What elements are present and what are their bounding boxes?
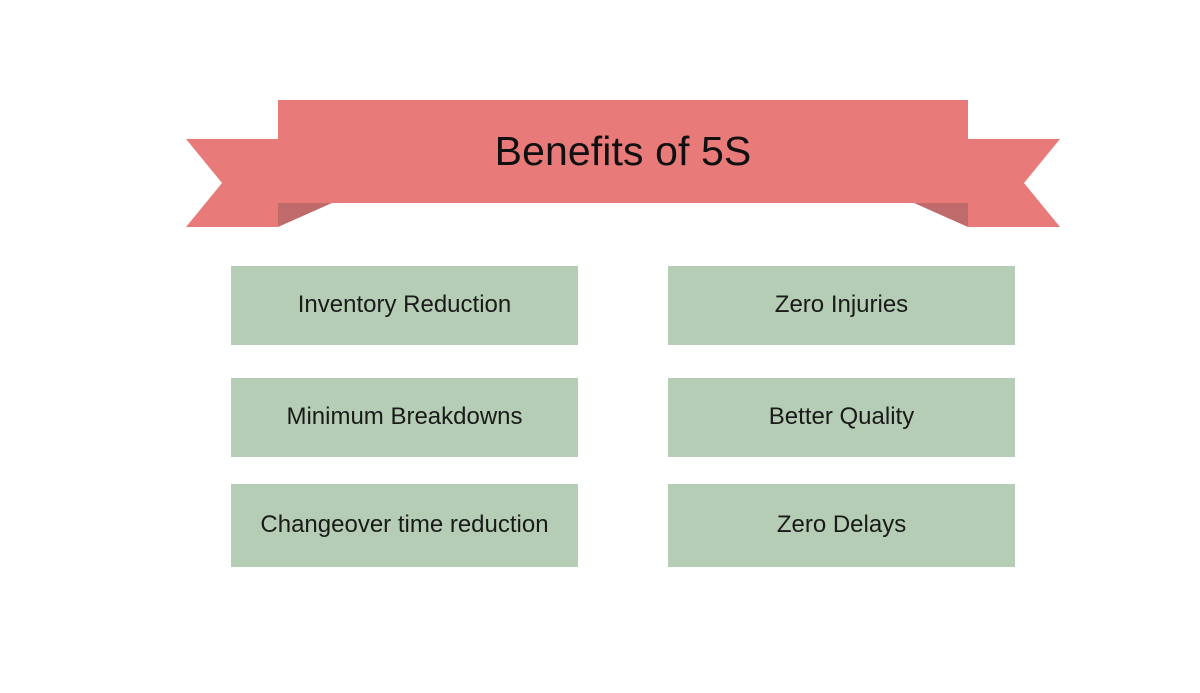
benefit-label: Better Quality bbox=[769, 403, 914, 432]
benefit-box-inventory-reduction[interactable]: Inventory Reduction bbox=[231, 266, 578, 345]
ribbon-left-fold bbox=[278, 203, 332, 227]
benefit-box-changeover-time-reduction[interactable]: Changeover time reduction bbox=[231, 484, 578, 567]
benefit-box-zero-delays[interactable]: Zero Delays bbox=[668, 484, 1015, 567]
ribbon-right-tail bbox=[968, 139, 1060, 227]
benefit-label: Changeover time reduction bbox=[260, 511, 548, 540]
benefit-label: Zero Delays bbox=[777, 511, 906, 540]
ribbon-right-fold bbox=[914, 203, 968, 227]
benefit-label: Minimum Breakdowns bbox=[286, 403, 522, 432]
benefit-box-zero-injuries[interactable]: Zero Injuries bbox=[668, 266, 1015, 345]
benefit-label: Zero Injuries bbox=[775, 291, 908, 320]
benefits-grid: Inventory Reduction Zero Injuries Minimu… bbox=[231, 266, 1015, 560]
benefit-label: Inventory Reduction bbox=[298, 291, 511, 320]
title-ribbon: Benefits of 5S bbox=[186, 100, 1060, 227]
ribbon-left-tail bbox=[186, 139, 278, 227]
benefit-box-minimum-breakdowns[interactable]: Minimum Breakdowns bbox=[231, 378, 578, 457]
page-title: Benefits of 5S bbox=[278, 100, 968, 203]
benefit-box-better-quality[interactable]: Better Quality bbox=[668, 378, 1015, 457]
slide-canvas: Benefits of 5S Inventory Reduction Zero … bbox=[0, 0, 1200, 693]
